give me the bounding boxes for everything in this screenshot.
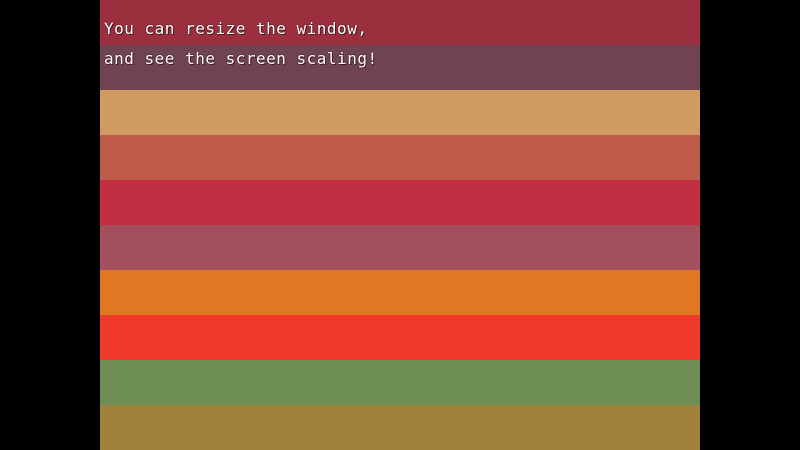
band-ochre xyxy=(100,405,700,450)
band-crimson xyxy=(100,180,700,225)
band-dark-crimson xyxy=(100,0,700,45)
letterbox-bar-left xyxy=(0,0,100,450)
band-orange xyxy=(100,270,700,315)
app-window: You can resize the window, and see the s… xyxy=(0,0,800,450)
band-muted-plum xyxy=(100,45,700,90)
band-dusty-rose xyxy=(100,225,700,270)
band-brick xyxy=(100,135,700,180)
letterbox-bar-right xyxy=(700,0,800,450)
game-viewport[interactable]: You can resize the window, and see the s… xyxy=(100,0,700,450)
band-sage-green xyxy=(100,360,700,405)
color-band-stack xyxy=(100,0,700,450)
band-sand-tan xyxy=(100,90,700,135)
band-vermilion xyxy=(100,315,700,360)
